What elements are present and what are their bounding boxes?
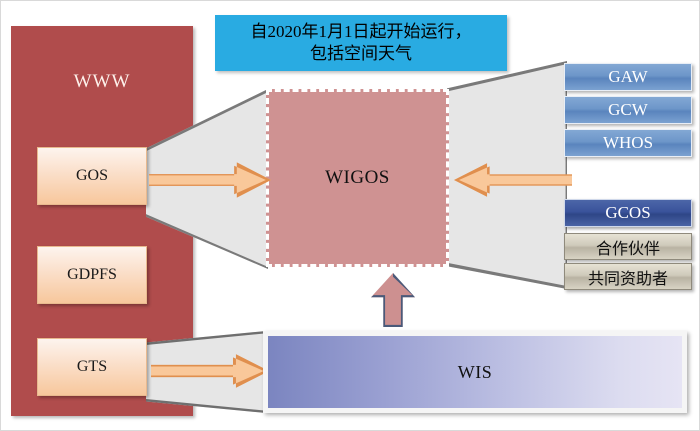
gos-label: GOS <box>76 167 108 185</box>
wis-to-wigos-arrow-icon <box>371 273 415 327</box>
gcw-label: GCW <box>608 100 648 120</box>
banner-line-2: 包括空间天气 <box>310 43 412 65</box>
whos-box[interactable]: WHOS <box>564 129 692 157</box>
partners-label: 合作伙伴 <box>596 235 660 259</box>
gaw-box[interactable]: GAW <box>564 63 692 91</box>
gts-label: GTS <box>77 358 107 376</box>
operational-banner: 自2020年1月1日起开始运行， 包括空间天气 <box>215 15 507 71</box>
gdpfs-label: GDPFS <box>67 266 117 284</box>
wis-label: WIS <box>458 362 493 383</box>
partners-box[interactable]: 合作伙伴 <box>564 233 692 260</box>
banner-line-1: 自2020年1月1日起开始运行， <box>251 21 472 43</box>
gcw-box[interactable]: GCW <box>564 96 692 124</box>
gts-box[interactable]: GTS <box>37 338 147 396</box>
gcos-label: GCOS <box>605 203 650 223</box>
wis-bar: WIS <box>263 331 687 413</box>
wigos-label: WIGOS <box>325 167 390 189</box>
gcos-box[interactable]: GCOS <box>564 199 692 227</box>
whos-label: WHOS <box>603 133 653 153</box>
gos-box[interactable]: GOS <box>37 147 147 205</box>
co-sponsors-box[interactable]: 共同资助者 <box>564 263 692 290</box>
gaw-label: GAW <box>608 67 647 87</box>
co-sponsors-label: 共同资助者 <box>588 265 668 289</box>
www-panel-title: WWW <box>11 71 193 93</box>
diagram-canvas: WWW WIGOS GOS GDPFS GTS WIS GAW GCW WHOS <box>0 0 700 431</box>
gdpfs-box[interactable]: GDPFS <box>37 246 147 304</box>
wigos-box: WIGOS <box>266 89 449 267</box>
